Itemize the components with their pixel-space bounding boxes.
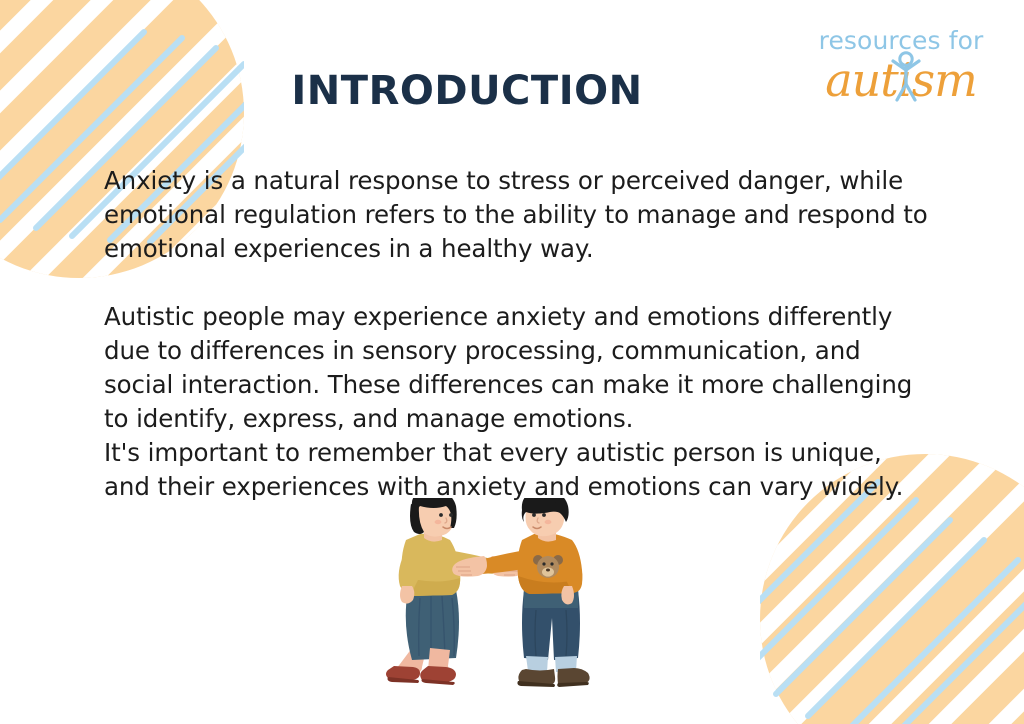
paragraph-autistic-experience: Autistic people may experience anxiety a… bbox=[104, 300, 934, 436]
person-with-bob-haircut bbox=[386, 498, 524, 685]
paragraph-anxiety-definition: Anxiety is a natural response to stress … bbox=[104, 164, 934, 266]
two-people-greeting-illustration bbox=[368, 498, 608, 694]
body-content: Anxiety is a natural response to stress … bbox=[104, 164, 934, 504]
slide-introduction: resources for autism INTRODUCTION Anxiet… bbox=[0, 0, 1024, 724]
person-with-bear-shirt bbox=[452, 498, 589, 687]
paragraph-uniqueness-reminder: It's important to remember that every au… bbox=[104, 436, 934, 504]
page-title: INTRODUCTION bbox=[0, 68, 934, 114]
